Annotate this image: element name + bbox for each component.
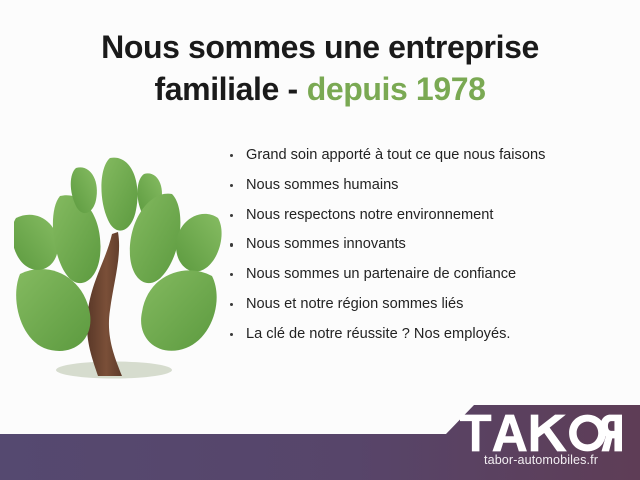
slide-canvas: Nous sommes une entreprise familiale -de… bbox=[0, 0, 640, 480]
tabor-wordmark bbox=[456, 414, 626, 452]
bullet-marker-icon bbox=[230, 184, 233, 187]
list-item-label: La clé de notre réussite ? Nos employés. bbox=[246, 326, 510, 342]
bullet-marker-icon bbox=[230, 243, 233, 246]
logo-letter-r bbox=[600, 415, 622, 452]
leaf-upper-left bbox=[53, 195, 101, 283]
list-item: Nous respectons notre environnement bbox=[228, 208, 628, 223]
list-item-label: Nous sommes un partenaire de confiance bbox=[246, 266, 516, 282]
list-item: La clé de notre réussite ? Nos employés. bbox=[228, 327, 628, 342]
bullet-marker-icon bbox=[230, 333, 233, 336]
list-item: Nous et notre région sommes liés bbox=[228, 297, 628, 312]
list-item-label: Nous respectons notre environnement bbox=[246, 207, 493, 223]
list-item: Nous sommes humains bbox=[228, 178, 628, 193]
brand-website-url[interactable]: tabor-automobiles.fr bbox=[456, 453, 626, 467]
list-item-label: Nous sommes innovants bbox=[246, 236, 406, 252]
value-proposition-list: Grand soin apporté à tout ce que nous fa… bbox=[228, 148, 628, 356]
list-item-label: Grand soin apporté à tout ce que nous fa… bbox=[246, 147, 545, 163]
family-tree-illustration bbox=[14, 152, 222, 390]
footer-brand-band: tabor-automobiles.fr bbox=[0, 398, 640, 480]
page-title-accent: depuis 1978 bbox=[307, 71, 486, 107]
bullet-marker-icon bbox=[230, 303, 233, 306]
page-title-line-2-prefix: familiale - bbox=[154, 71, 297, 107]
page-title-line-2: familiale -depuis 1978 bbox=[0, 68, 640, 110]
logo-letter-b bbox=[531, 415, 567, 452]
logo-letter-t bbox=[460, 415, 491, 452]
leaf-top-center bbox=[101, 158, 137, 231]
list-item: Nous sommes innovants bbox=[228, 237, 628, 252]
list-item-label: Nous sommes humains bbox=[246, 177, 398, 193]
logo-letter-o bbox=[569, 415, 606, 452]
bullet-marker-icon bbox=[230, 154, 233, 157]
page-title-line-1: Nous sommes une entreprise bbox=[101, 29, 539, 65]
page-title: Nous sommes une entreprise familiale -de… bbox=[0, 26, 640, 110]
leaf-upper-right bbox=[130, 194, 181, 283]
list-item-label: Nous et notre région sommes liés bbox=[246, 296, 463, 312]
list-item: Grand soin apporté à tout ce que nous fa… bbox=[228, 148, 628, 163]
list-item: Nous sommes un partenaire de confiance bbox=[228, 267, 628, 282]
logo-letter-a bbox=[492, 415, 527, 452]
leaf-mid-right bbox=[176, 214, 222, 272]
brand-logo[interactable]: tabor-automobiles.fr bbox=[456, 414, 626, 467]
bullet-marker-icon bbox=[230, 214, 233, 217]
bullet-marker-icon bbox=[230, 273, 233, 276]
leaf-mid-left bbox=[14, 215, 58, 270]
